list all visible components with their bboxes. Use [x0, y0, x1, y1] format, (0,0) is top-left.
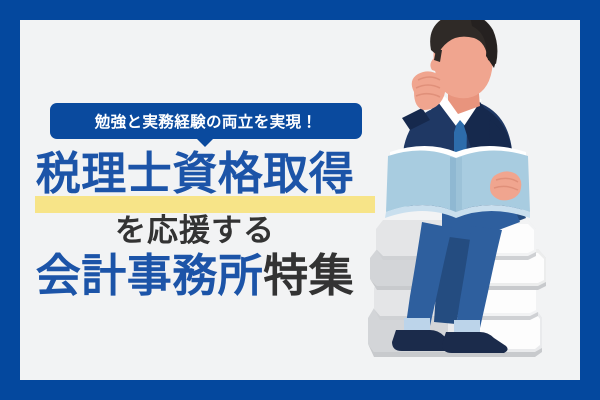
badge-tagline: 勉強と実務経験の両立を実現！: [50, 103, 362, 139]
headline-line-1: 税理士資格取得: [0, 148, 390, 200]
badge-label: 勉強と実務経験の両立を実現！: [95, 110, 318, 132]
headline-line-2: を応援する: [0, 211, 390, 251]
hand-holding-book: [490, 171, 521, 200]
text-block: 勉強と実務経験の両立を実現！ 税理士資格取得 を応援する 会計事務所特集: [0, 0, 390, 400]
badge-pointer-triangle: [196, 138, 214, 147]
banner-root: 勉強と実務経験の両立を実現！ 税理士資格取得 を応援する 会計事務所特集: [0, 0, 600, 400]
headline-line-3: 会計事務所特集: [0, 250, 390, 302]
headline-line-3-primary: 会計事務所: [36, 250, 264, 301]
headline-line-3-secondary: 特集: [263, 250, 354, 301]
